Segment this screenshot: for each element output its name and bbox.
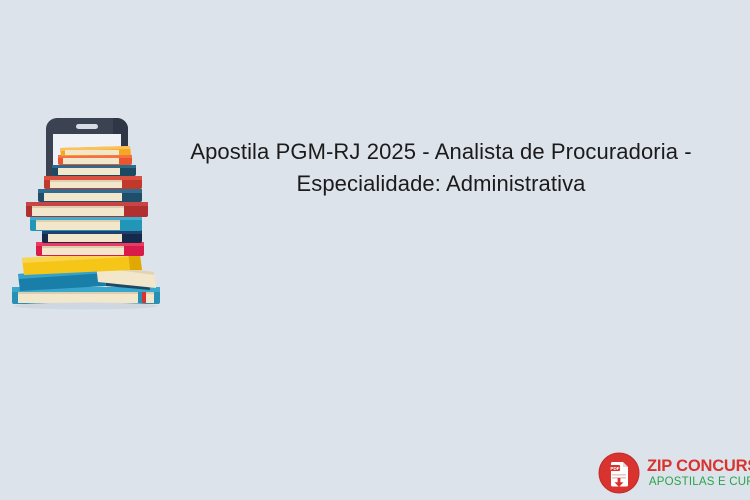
brand-name: ZIP CONCURSOS [647, 457, 750, 475]
promo-banner: Apostila PGM-RJ 2025 - Analista de Procu… [0, 0, 750, 500]
brand-logo-text: ZIP CONCURSOS APOSTILAS E CURSOS [647, 457, 750, 489]
book-red [44, 176, 142, 189]
book-darkred [26, 202, 148, 217]
book-navy [38, 189, 142, 202]
book-orange [58, 155, 132, 165]
brand-logo[interactable]: PDF ZIP CONCURSOS APOSTILAS E CURSOS [598, 450, 744, 496]
tablet-and-book-stack-illustration [8, 112, 173, 312]
svg-text:PDF: PDF [610, 466, 619, 471]
book-teal-small [52, 165, 136, 176]
page-title: Apostila PGM-RJ 2025 - Analista de Procu… [160, 136, 722, 200]
pdf-download-icon: PDF [598, 452, 640, 494]
brand-tagline: APOSTILAS E CURSOS [647, 475, 750, 489]
book-navy-dark [42, 230, 142, 243]
book-blue-light [30, 216, 142, 231]
book-crimson [36, 242, 144, 256]
